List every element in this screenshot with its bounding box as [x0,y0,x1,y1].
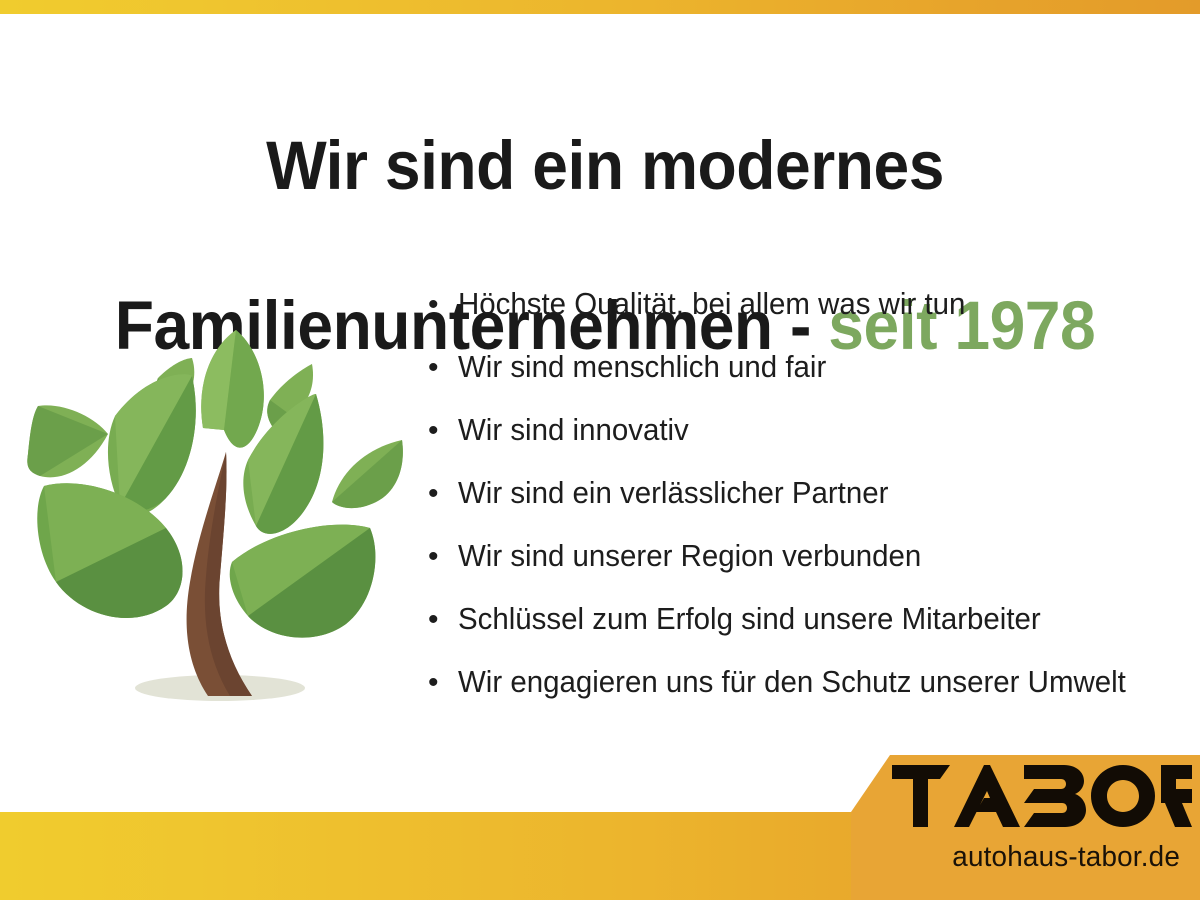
list-item-label: Höchste Qualität, bei allem was wir tun [458,286,965,322]
bullet-marker-icon: • [428,605,458,635]
leaf-lower-left [37,483,182,618]
bullet-marker-icon: • [428,479,458,509]
list-item-label: Schlüssel zum Erfolg sind unsere Mitarbe… [458,601,1041,637]
bullet-marker-icon: • [428,542,458,572]
list-item-label: Wir sind unserer Region verbunden [458,538,921,574]
bullet-marker-icon: • [428,353,458,383]
tree-illustration [20,310,420,710]
list-item: • Schlüssel zum Erfolg sind unsere Mitar… [428,601,1188,664]
bullet-marker-icon: • [428,290,458,320]
list-item: • Wir sind menschlich und fair [428,349,1188,412]
list-item: • Wir sind innovativ [428,412,1188,475]
bullet-marker-icon: • [428,668,458,698]
logo-website-url: autohaus-tabor.de [854,841,1180,874]
brand-logo-banner: autohaus-tabor.de [840,755,1200,900]
list-item: • Wir sind unserer Region verbunden [428,538,1188,601]
leaf-lower-right [230,525,376,638]
list-item-label: Wir sind innovativ [458,412,689,448]
list-item: • Höchste Qualität, bei allem was wir tu… [428,286,1188,349]
leaf-left-small [27,405,108,477]
page-title-line-1: Wir sind ein modernes [98,126,1112,206]
top-accent-bar [0,0,1200,14]
list-item: • Wir sind ein verlässlicher Partner [428,475,1188,538]
list-item-label: Wir engagieren uns für den Schutz unsere… [458,664,1126,700]
list-item-label: Wir sind menschlich und fair [458,349,826,385]
slide-canvas: Wir sind ein modernes Familienunternehme… [0,0,1200,900]
bullet-marker-icon: • [428,416,458,446]
leaf-top-center [201,330,264,448]
list-item-label: Wir sind ein verlässlicher Partner [458,475,888,511]
leaf-right-small [332,440,403,508]
list-item: • Wir engagieren uns für den Schutz unse… [428,664,1188,727]
value-bullet-list: • Höchste Qualität, bei allem was wir tu… [428,286,1188,727]
tabor-wordmark-logo [892,765,1192,827]
leaf-upper-left [108,374,196,516]
